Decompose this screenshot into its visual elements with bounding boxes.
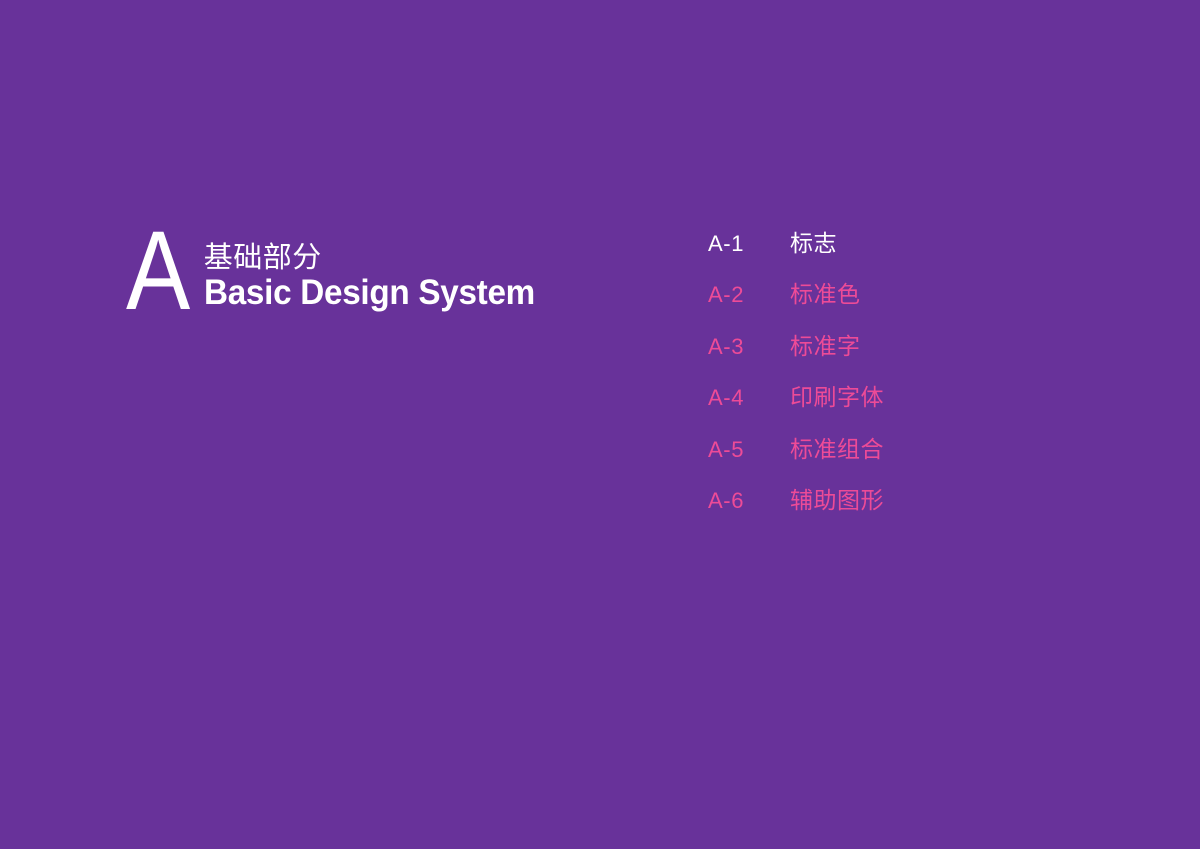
contents-list: A-1标志A-2标准色A-3标准字A-4印刷字体A-5标准组合A-6辅助图形 xyxy=(708,224,884,532)
contents-row-code: A-3 xyxy=(708,334,790,360)
contents-row-code: A-4 xyxy=(708,385,790,411)
contents-row-code: A-6 xyxy=(708,488,790,514)
page-root: A 基础部分 Basic Design System A-1标志A-2标准色A-… xyxy=(0,0,1200,849)
contents-row-label: 标准字 xyxy=(790,327,861,361)
contents-row-code: A-2 xyxy=(708,282,790,308)
contents-row[interactable]: A-2标准色 xyxy=(708,275,884,326)
section-title-block: A 基础部分 Basic Design System xyxy=(126,222,552,314)
contents-row-code: A-1 xyxy=(708,231,790,257)
contents-row-label: 印刷字体 xyxy=(790,378,884,412)
section-title-chinese: 基础部分 xyxy=(204,240,552,274)
section-title-text: 基础部分 Basic Design System xyxy=(204,240,552,314)
contents-row-label: 标志 xyxy=(790,224,837,258)
contents-row-code: A-5 xyxy=(708,437,790,463)
contents-row[interactable]: A-4印刷字体 xyxy=(708,378,884,429)
contents-row[interactable]: A-6辅助图形 xyxy=(708,481,884,532)
contents-row[interactable]: A-5标准组合 xyxy=(708,430,884,481)
contents-row[interactable]: A-1标志 xyxy=(708,224,884,275)
contents-row-label: 标准色 xyxy=(790,275,861,309)
section-letter: A xyxy=(126,227,189,314)
contents-row[interactable]: A-3标准字 xyxy=(708,327,884,378)
section-title-english: Basic Design System xyxy=(204,274,535,312)
contents-row-label: 标准组合 xyxy=(790,430,884,464)
contents-row-label: 辅助图形 xyxy=(790,481,884,515)
